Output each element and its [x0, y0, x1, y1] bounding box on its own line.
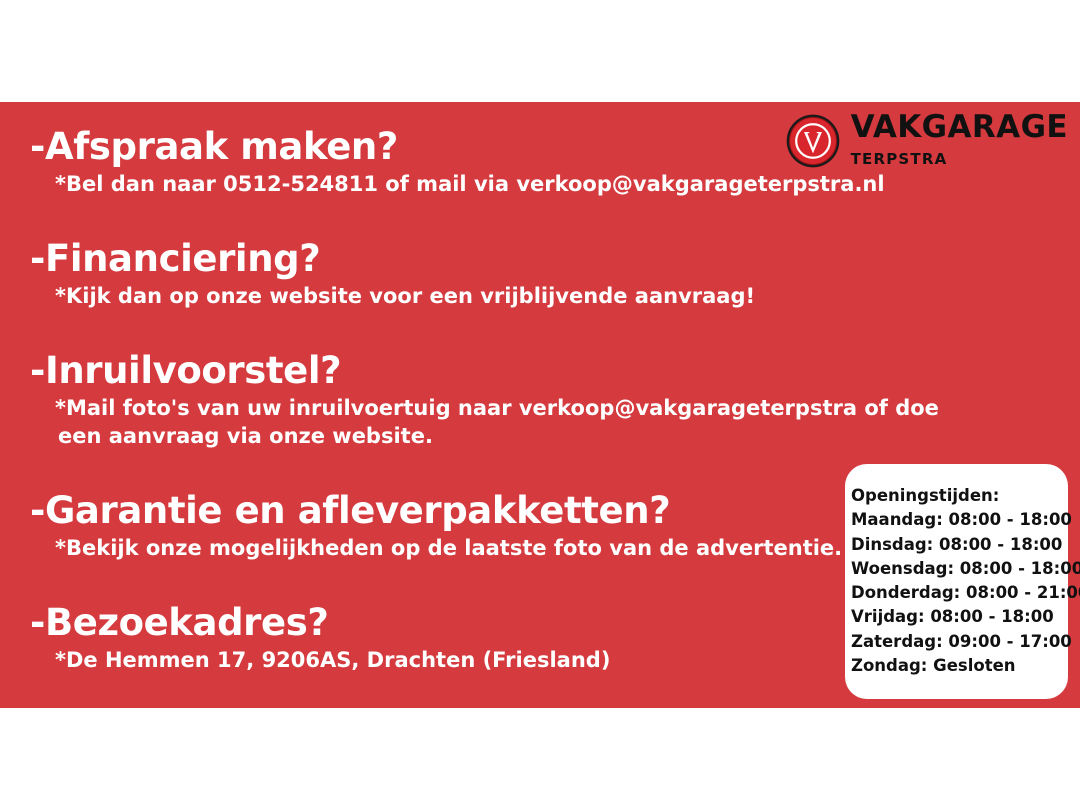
- section-afspraak: -Afspraak maken? *Bel dan naar 0512-5248…: [30, 128, 885, 198]
- section-heading: -Inruilvoorstel?: [30, 352, 939, 391]
- opening-hours-row-thursday: Donderdag: 08:00 - 21:00: [851, 581, 1068, 605]
- section-financiering: -Financiering? *Kijk dan op onze website…: [30, 240, 755, 310]
- section-detail-line: *De Hemmen 17, 9206AS, Drachten (Friesla…: [55, 646, 610, 674]
- section-heading: -Bezoekadres?: [30, 604, 610, 643]
- opening-hours-row-monday: Maandag: 08:00 - 18:00: [851, 508, 1068, 532]
- section-heading: -Garantie en afleverpakketten?: [30, 492, 842, 531]
- section-bezoekadres: -Bezoekadres? *De Hemmen 17, 9206AS, Dra…: [30, 604, 610, 674]
- section-detail-line: *Bekijk onze mogelijkheden op de laatste…: [55, 534, 842, 562]
- section-heading: -Financiering?: [30, 240, 755, 279]
- opening-hours-row-sunday: Zondag: Gesloten: [851, 654, 1068, 678]
- section-detail-line: *Kijk dan op onze website voor een vrijb…: [55, 282, 755, 310]
- opening-hours-row-friday: Vrijdag: 08:00 - 18:00: [851, 605, 1068, 629]
- section-detail-line: *Bel dan naar 0512-524811 of mail via ve…: [55, 170, 885, 198]
- opening-hours-row-tuesday: Dinsdag: 08:00 - 18:00: [851, 533, 1068, 557]
- opening-hours-card: Openingstijden: Maandag: 08:00 - 18:00 D…: [845, 464, 1068, 699]
- opening-hours-title: Openingstijden:: [851, 484, 1068, 508]
- advertisement-banner: VAKGARAGE Terpstra -Afspraak maken? *Bel…: [0, 0, 1080, 810]
- opening-hours-row-saturday: Zaterdag: 09:00 - 17:00: [851, 630, 1068, 654]
- opening-hours-row-wednesday: Woensdag: 08:00 - 18:00: [851, 557, 1068, 581]
- section-garantie-afleverpakketten: -Garantie en afleverpakketten? *Bekijk o…: [30, 492, 842, 562]
- section-heading: -Afspraak maken?: [30, 128, 885, 167]
- section-inruilvoorstel: -Inruilvoorstel? *Mail foto's van uw inr…: [30, 352, 939, 451]
- section-detail-line: *Mail foto's van uw inruilvoertuig naar …: [55, 394, 939, 422]
- section-detail-line-continued: een aanvraag via onze website.: [58, 422, 939, 450]
